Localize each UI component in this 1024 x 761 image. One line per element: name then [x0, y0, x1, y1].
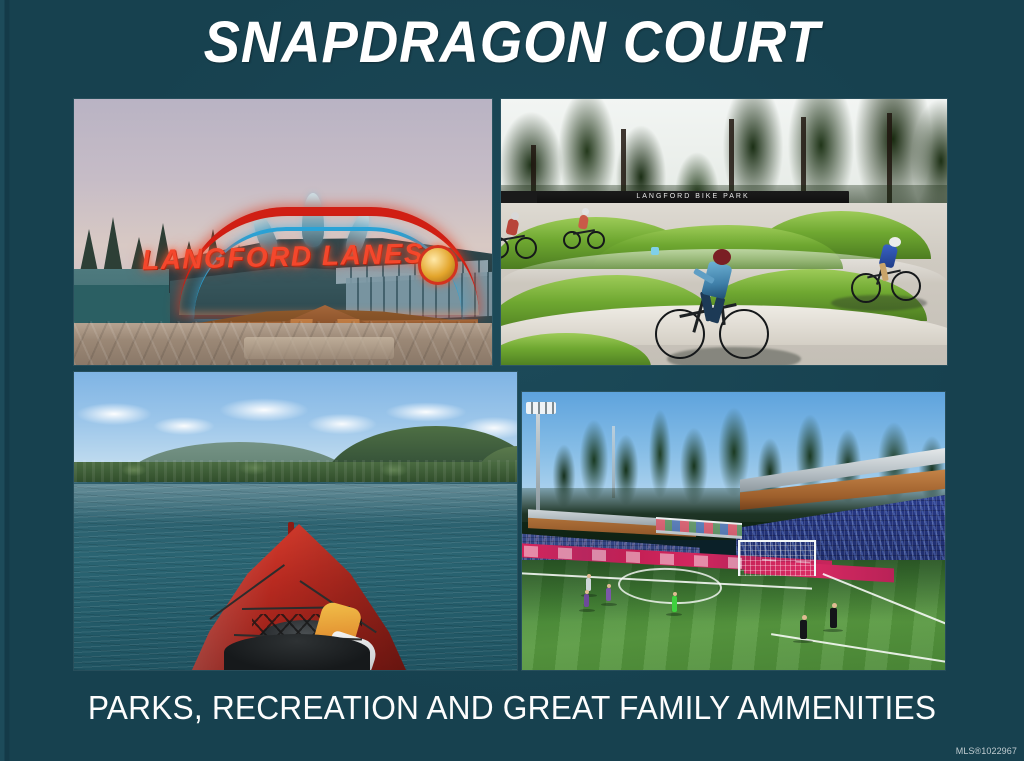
- photo-langford-lanes[interactable]: LANGFORD LANES: [74, 99, 492, 365]
- kayak-cockpit: [224, 634, 370, 670]
- photo-soccer-stadium[interactable]: [522, 392, 945, 670]
- stadium-floodlight-icon: [526, 402, 556, 414]
- photo-bike-pump-track[interactable]: LANGFORD BIKE PARK: [501, 99, 947, 365]
- pumptrack-cyclist: [851, 237, 923, 303]
- page-title: SNAPDRAGON COURT: [31, 12, 994, 74]
- pumptrack-cyclist: [563, 207, 607, 251]
- pumptrack-cyclist: [501, 211, 539, 259]
- pumptrack-cyclist-foreground: [651, 247, 779, 363]
- bowling-logo-badge-icon: [418, 245, 458, 285]
- stadium-floodlight-mast: [536, 406, 540, 510]
- photo-kayaking-lake[interactable]: [74, 372, 517, 670]
- mls-id-watermark: MLS®1022967: [956, 746, 1017, 756]
- slide-caption: PARKS, RECREATION AND GREAT FAMILY AMMEN…: [20, 689, 1003, 727]
- bowling-walkway: [244, 337, 394, 359]
- pumptrack-banner-text: LANGFORD BIKE PARK: [537, 193, 849, 200]
- stadium-goal-net: [738, 540, 816, 576]
